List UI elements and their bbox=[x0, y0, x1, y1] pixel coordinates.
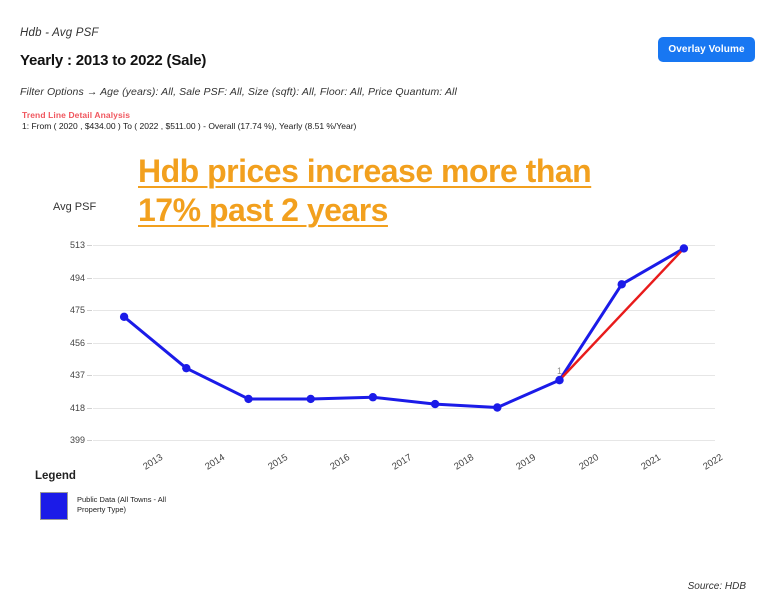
x-axis-tick-label: 2015 bbox=[266, 452, 290, 473]
data-point-marker[interactable] bbox=[244, 395, 252, 403]
y-axis-tick-label: 494 bbox=[70, 273, 85, 283]
data-point-marker[interactable] bbox=[369, 393, 377, 401]
source-attribution: Source: HDB bbox=[688, 581, 746, 592]
data-point-marker[interactable] bbox=[182, 364, 190, 372]
legend-item-label: Public Data (All Towns - All Property Ty… bbox=[77, 492, 187, 515]
x-axis-tick-label: 2017 bbox=[390, 452, 414, 473]
x-axis-tick-label: 2020 bbox=[577, 452, 601, 473]
chart-subtitle: Hdb - Avg PSF bbox=[20, 27, 99, 39]
chart-series bbox=[93, 245, 715, 440]
trend-line-segment bbox=[560, 248, 684, 380]
x-axis-tick-label: 2016 bbox=[328, 452, 352, 473]
annotation-line-1: Hdb prices increase more than bbox=[138, 152, 718, 191]
trend-analysis-heading: Trend Line Detail Analysis bbox=[22, 111, 356, 121]
data-point-marker[interactable] bbox=[618, 280, 626, 288]
y-axis-tick-label: 418 bbox=[70, 403, 85, 413]
x-axis-tick-label: 2022 bbox=[701, 452, 725, 473]
x-axis-tick-label: 2019 bbox=[515, 452, 539, 473]
chart-plot-area: 399418437456475494513 201320142015201620… bbox=[93, 245, 715, 440]
x-axis-tick-label: 2014 bbox=[204, 452, 228, 473]
overlay-volume-button[interactable]: Overlay Volume bbox=[658, 37, 755, 62]
y-axis-tick-label: 513 bbox=[70, 240, 85, 250]
x-axis-tick-label: 2021 bbox=[639, 452, 663, 473]
x-axis-tick-label: 2013 bbox=[141, 452, 165, 473]
gridline bbox=[93, 440, 715, 441]
annotation-line-2: 17% past 2 years bbox=[138, 191, 718, 230]
page-title: Yearly : 2013 to 2022 (Sale) bbox=[20, 52, 206, 69]
data-point-marker[interactable] bbox=[555, 376, 563, 384]
trend-line-detail-analysis: Trend Line Detail Analysis 1: From ( 202… bbox=[22, 111, 356, 131]
data-point-marker[interactable] bbox=[493, 403, 501, 411]
series-line-public-data bbox=[124, 248, 684, 407]
trend-line-number-label: 1 bbox=[557, 366, 562, 376]
y-axis-tick-label: 399 bbox=[70, 435, 85, 445]
filter-options-text: Filter Options → Age (years): All, Sale … bbox=[20, 86, 457, 98]
x-axis-tick-label: 2018 bbox=[452, 452, 476, 473]
data-point-marker[interactable] bbox=[680, 244, 688, 252]
data-point-marker[interactable] bbox=[307, 395, 315, 403]
legend-item: Public Data (All Towns - All Property Ty… bbox=[40, 492, 187, 520]
y-axis-tick-label: 437 bbox=[70, 370, 85, 380]
legend-title: Legend bbox=[35, 470, 76, 482]
y-axis-tick-label: 456 bbox=[70, 338, 85, 348]
trend-analysis-detail: 1: From ( 2020 , $434.00 ) To ( 2022 , $… bbox=[22, 122, 356, 132]
y-axis-tick-label: 475 bbox=[70, 305, 85, 315]
annotation-callout: Hdb prices increase more than 17% past 2… bbox=[138, 152, 718, 230]
data-point-marker[interactable] bbox=[120, 313, 128, 321]
y-axis-title: Avg PSF bbox=[53, 201, 96, 213]
legend-color-swatch bbox=[40, 492, 68, 520]
data-point-marker[interactable] bbox=[431, 400, 439, 408]
